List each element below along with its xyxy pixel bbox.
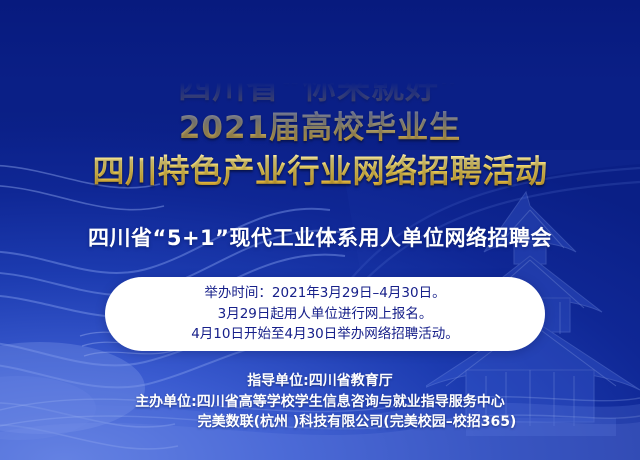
activity-period-line: 4月10日开始至4月30日举办网络招聘活动。: [191, 324, 459, 345]
brand-logo: 校招365 完美校园旗下产品: [22, 12, 212, 64]
host-unit-line: 主办单位:四川省高等学校学生信息咨询与就业指导服务中心: [0, 392, 640, 413]
event-date-line: 举办时间：2021年3月29日–4月30日。: [204, 283, 445, 304]
event-info-card: 举办时间：2021年3月29日–4月30日。 3月29日起用人单位进行网上报名。…: [105, 277, 545, 351]
recruitment-poster: 校招365 完美校园旗下产品 四川省“你来就好” 2021届高校毕业生 四川特色…: [0, 0, 640, 460]
headline-line-1: 四川省“你来就好”: [0, 68, 640, 106]
logo-name: 校招365: [87, 21, 186, 44]
logo-text-block: 校招365 完美校园旗下产品: [87, 21, 186, 56]
swallow-bird-icon: [22, 18, 80, 58]
headline-block: 四川省“你来就好” 2021届高校毕业生 四川特色产业行业网络招聘活动: [0, 68, 640, 190]
registration-line: 3月29日起用人单位进行网上报名。: [218, 304, 433, 325]
subheading: 四川省“5+1”现代工业体系用人单位网络招聘会: [0, 222, 640, 252]
organizers-block: 指导单位:四川省教育厅 主办单位:四川省高等学校学生信息咨询与就业指导服务中心 …: [0, 371, 640, 433]
co-host-unit-line: 完美数联(杭州 )科技有限公司(完美校园–校招365): [0, 412, 640, 433]
headline-line-2: 2021届高校毕业生: [0, 111, 640, 147]
headline-line-3: 四川特色产业行业网络招聘活动: [0, 153, 640, 190]
logo-tagline: 完美校园旗下产品: [87, 48, 186, 56]
guidance-unit-line: 指导单位:四川省教育厅: [0, 371, 640, 392]
